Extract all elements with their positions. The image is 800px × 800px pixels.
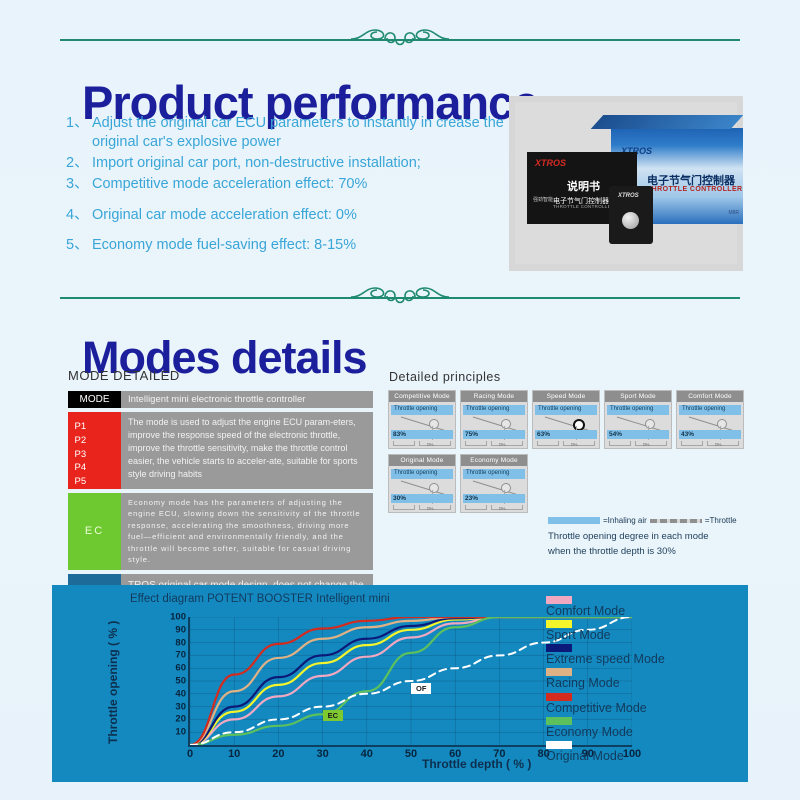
- mode-card-foot: 0%: [391, 440, 453, 448]
- principles-card-row: Original Mode Throttle opening 30% 0% Ec…: [388, 454, 744, 513]
- bracket-right: [419, 505, 451, 510]
- mode-card-title: Original Mode: [389, 455, 455, 466]
- mode-card-foot: 0%: [463, 504, 525, 512]
- mode-card-percent: 63%: [537, 431, 550, 438]
- table-row-key: P1 P2 P3 P4 P5: [68, 412, 121, 489]
- mode-card-title: Sport Mode: [605, 391, 671, 402]
- throttle-opening-label: Throttle opening: [466, 406, 509, 412]
- principles-legend: =Inhaling air =Throttle Throttle opening…: [548, 516, 744, 560]
- product-photo: XTROS 电子节气门控制器 THROTTLE CONTROLLER M8R X…: [509, 96, 743, 271]
- chart-y-tick: 90: [175, 624, 186, 635]
- inhaling-air-swatch: [548, 517, 600, 524]
- chart-y-tick: 70: [175, 650, 186, 661]
- table-row-description: The mode is used to adjust the engine EC…: [121, 412, 373, 489]
- list-item-number: 1、: [66, 114, 92, 152]
- list-item: 1、 Adjust the original car ECU parameter…: [66, 114, 506, 152]
- detailed-principles-label: Detailed principles: [389, 370, 501, 384]
- table-row: EC Economy mode has the parameters of ad…: [68, 493, 373, 570]
- list-item-text: Competitive mode acceleration effect: 70…: [92, 175, 506, 194]
- throttle-label: =Throttle: [705, 516, 737, 525]
- mode-card-body: Throttle opening 30% 0%: [389, 466, 455, 512]
- mode-card-title: Competitive Mode: [389, 391, 455, 402]
- list-item-number: 3、: [66, 175, 92, 194]
- mode-card: Competitive Mode Throttle opening 83% 0%: [388, 390, 456, 449]
- mode-card-percent: 75%: [465, 431, 478, 438]
- legend-swatch: [546, 717, 572, 725]
- flourish-ornament-icon: [341, 26, 459, 52]
- inhaling-air-label: =Inhaling air: [603, 516, 647, 525]
- bracket-right: [491, 441, 523, 446]
- legend-label: Sport Mode: [546, 629, 746, 642]
- bracket-right: [563, 441, 595, 446]
- manual-brand-label: XTROS: [535, 158, 566, 168]
- inhaling-air-bar-top: Throttle opening: [607, 405, 669, 415]
- mode-card-title: Economy Mode: [461, 455, 527, 466]
- mode-card-title: Comfort Mode: [677, 391, 743, 402]
- chart-legend: Comfort Mode Sport Mode Extreme speed Mo…: [546, 596, 746, 765]
- table-row-key: MODE: [68, 391, 121, 408]
- mode-card-foot: 0%: [535, 440, 597, 448]
- table-row-key: EC: [68, 493, 121, 570]
- legend-swatch: [546, 596, 572, 604]
- preset-keys: P1 P2 P3 P4 P5: [73, 420, 117, 489]
- foot-percent: 0%: [427, 442, 434, 447]
- foot-percent: 0%: [643, 442, 650, 447]
- list-item-text: Economy mode fuel-saving effect: 8-15%: [92, 236, 506, 255]
- legend-label: Extreme speed Mode: [546, 653, 746, 666]
- throttle-point-icon: [429, 483, 439, 493]
- mode-card-body: Throttle opening 54% 0%: [605, 402, 671, 448]
- bracket-left: [537, 441, 559, 446]
- infographic-page: Product performance 1、 Adjust the origin…: [0, 0, 800, 800]
- bracket-right: [419, 441, 451, 446]
- legend-item: Economy Mode: [546, 717, 746, 739]
- principles-card-row: Competitive Mode Throttle opening 83% 0%…: [388, 390, 744, 449]
- chart-x-tick: 20: [272, 748, 284, 760]
- chart-y-axis-label: Throttle opening ( % ): [106, 615, 122, 749]
- list-item-number: 2、: [66, 154, 92, 173]
- legend-item: Sport Mode: [546, 620, 746, 642]
- foot-percent: 0%: [499, 442, 506, 447]
- mode-card-body: Throttle opening 75% 0%: [461, 402, 527, 448]
- chart-y-tick: 80: [175, 637, 186, 648]
- list-item-text: Import original car port, non-destructiv…: [92, 154, 506, 173]
- foot-percent: 0%: [715, 442, 722, 447]
- bracket-left: [681, 441, 703, 446]
- throttle-opening-label: Throttle opening: [466, 470, 509, 476]
- list-item: 5、 Economy mode fuel-saving effect: 8-15…: [66, 236, 506, 255]
- mode-card-foot: 0%: [607, 440, 669, 448]
- manual-small-label: 强劲智能: [533, 196, 553, 203]
- chart-annotation-of: OF: [411, 683, 431, 694]
- chart-x-axis-label: Throttle depth ( % ): [422, 757, 531, 771]
- mode-card-foot: 0%: [391, 504, 453, 512]
- legend-label: Competitive Mode: [546, 702, 746, 715]
- throttle-point-icon: [717, 419, 727, 429]
- foot-percent: 0%: [571, 442, 578, 447]
- throttle-opening-label: Throttle opening: [682, 406, 725, 412]
- chart-x-tick: 60: [449, 748, 461, 760]
- mode-detailed-label: MODE DETAILED: [68, 368, 180, 383]
- legend-item: Competitive Mode: [546, 693, 746, 715]
- chart-x-tick: 0: [187, 748, 193, 760]
- legend-label: Economy Mode: [546, 726, 746, 739]
- inhaling-air-bar-top: Throttle opening: [391, 405, 453, 415]
- list-item-number: 5、: [66, 236, 92, 255]
- list-item: 3、 Competitive mode acceleration effect:…: [66, 175, 506, 194]
- legend-caption-line2: when the throttle depth is 30%: [548, 545, 744, 559]
- throttle-opening-label: Throttle opening: [394, 470, 437, 476]
- throttle-opening-label: Throttle opening: [394, 406, 437, 412]
- inhaling-air-bar-top: Throttle opening: [679, 405, 741, 415]
- mode-card-title: Speed Mode: [533, 391, 599, 402]
- inhaling-air-bar-top: Throttle opening: [391, 469, 453, 479]
- foot-percent: 0%: [427, 506, 434, 511]
- photo-inner: XTROS 电子节气门控制器 THROTTLE CONTROLLER M8R X…: [515, 102, 737, 264]
- chart-y-tick: 40: [175, 688, 186, 699]
- legend-swatch: [546, 693, 572, 701]
- mode-card-percent: 83%: [393, 431, 406, 438]
- inhaling-air-bar-top: Throttle opening: [535, 405, 597, 415]
- legend-row: =Inhaling air =Throttle: [548, 516, 744, 525]
- legend-item: Comfort Mode: [546, 596, 746, 618]
- throttle-swatch: [650, 519, 702, 523]
- throttle-point-icon: [645, 419, 655, 429]
- throttle-point-icon: [429, 419, 439, 429]
- chart-x-tick: 50: [405, 748, 417, 760]
- box-english-label: THROTTLE CONTROLLER: [647, 186, 742, 193]
- throttle-controller-device: XTROS: [609, 186, 653, 244]
- mode-card-body: Throttle opening 23% 0%: [461, 466, 527, 512]
- mode-detail-table: MODE Intelligent mini electronic throttl…: [68, 391, 373, 616]
- divider-middle: [60, 284, 740, 310]
- mode-card-percent: 30%: [393, 495, 406, 502]
- mode-card-foot: 0%: [463, 440, 525, 448]
- list-item-number: 4、: [66, 206, 92, 225]
- chart-title: Effect diagram POTENT BOOSTER Intelligen…: [130, 593, 390, 605]
- product-feature-list: 1、 Adjust the original car ECU parameter…: [66, 114, 506, 257]
- chart-y-tick: 20: [175, 714, 186, 725]
- legend-swatch: [546, 741, 572, 749]
- legend-label: Original Mode: [546, 750, 746, 763]
- flourish-ornament-icon: [341, 284, 459, 310]
- mode-card: Racing Mode Throttle opening 75% 0%: [460, 390, 528, 449]
- list-item-text: Adjust the original car ECU parameters t…: [92, 114, 506, 152]
- principles-card-grid: Competitive Mode Throttle opening 83% 0%…: [388, 390, 744, 518]
- chart-x-tick: 10: [228, 748, 240, 760]
- mode-card-percent: 23%: [465, 495, 478, 502]
- throttle-point-icon: [501, 419, 511, 429]
- legend-label: Comfort Mode: [546, 605, 746, 618]
- manual-chinese-title: 说明书: [567, 178, 600, 194]
- chart-x-tick: 30: [316, 748, 328, 760]
- legend-item: Extreme speed Mode: [546, 644, 746, 666]
- table-row-description: Intelligent mini electronic throttle con…: [121, 391, 373, 408]
- mode-card: Original Mode Throttle opening 30% 0%: [388, 454, 456, 513]
- table-row: P1 P2 P3 P4 P5 The mode is used to adjus…: [68, 412, 373, 489]
- chart-y-tick: 50: [175, 676, 186, 687]
- table-row-description: Economy mode has the parameters of adjus…: [121, 493, 373, 570]
- manual-english-subtitle: THROTTLE CONTROLLER: [553, 204, 614, 209]
- list-item-text: Original car mode acceleration effect: 0…: [92, 206, 506, 225]
- mode-card-title: Racing Mode: [461, 391, 527, 402]
- box-model-label: M8R: [728, 210, 739, 216]
- legend-item: Original Mode: [546, 741, 746, 763]
- chart-annotation-ec: EC: [323, 710, 343, 721]
- throttle-opening-label: Throttle opening: [538, 406, 581, 412]
- bracket-right: [635, 441, 667, 446]
- legend-item: Racing Mode: [546, 668, 746, 690]
- bracket-left: [465, 441, 487, 446]
- preset-key: P5: [73, 475, 97, 489]
- box-top-face: [591, 115, 743, 129]
- throttle-opening-label: Throttle opening: [610, 406, 653, 412]
- legend-caption-line1: Throttle opening degree in each mode: [548, 530, 744, 544]
- mode-card-body: Throttle opening 83% 0%: [389, 402, 455, 448]
- inhaling-air-bar-top: Throttle opening: [463, 469, 525, 479]
- preset-key: P4: [73, 461, 97, 475]
- preset-key: P1: [73, 420, 97, 434]
- legend-swatch: [546, 620, 572, 628]
- mode-card: Economy Mode Throttle opening 23% 0%: [460, 454, 528, 513]
- chart-x-tick: 40: [361, 748, 373, 760]
- divider-top: [60, 26, 740, 52]
- bracket-right: [491, 505, 523, 510]
- mode-card: Speed Mode Throttle opening 63% 0%: [532, 390, 600, 449]
- bracket-right: [707, 441, 739, 446]
- foot-percent: 0%: [499, 506, 506, 511]
- inhaling-air-bar-top: Throttle opening: [463, 405, 525, 415]
- mode-card-percent: 54%: [609, 431, 622, 438]
- preset-key: P2: [73, 434, 97, 448]
- chart-y-tick: 100: [170, 612, 186, 623]
- bracket-left: [393, 441, 415, 446]
- mode-card: Comfort Mode Throttle opening 43% 0%: [676, 390, 744, 449]
- bracket-left: [609, 441, 631, 446]
- throttle-point-icon: [501, 483, 511, 493]
- legend-swatch: [546, 644, 572, 652]
- device-knob-icon: [622, 212, 639, 229]
- chart-y-tick: 30: [175, 701, 186, 712]
- mode-card-percent: 43%: [681, 431, 694, 438]
- bracket-left: [465, 505, 487, 510]
- table-row: MODE Intelligent mini electronic throttl…: [68, 391, 373, 408]
- device-brand-label: XTROS: [618, 193, 639, 199]
- bracket-left: [393, 505, 415, 510]
- chart-y-tick: 60: [175, 663, 186, 674]
- mode-card: Sport Mode Throttle opening 54% 0%: [604, 390, 672, 449]
- legend-swatch: [546, 668, 572, 676]
- chart-y-tick: 10: [175, 727, 186, 738]
- legend-label: Racing Mode: [546, 677, 746, 690]
- preset-key: P3: [73, 448, 97, 462]
- list-item: 2、 Import original car port, non-destruc…: [66, 154, 506, 173]
- mode-card-foot: 0%: [679, 440, 741, 448]
- mode-card-body: Throttle opening 63% 0%: [533, 402, 599, 448]
- list-item: 4、 Original car mode acceleration effect…: [66, 206, 506, 225]
- mode-card-body: Throttle opening 43% 0%: [677, 402, 743, 448]
- chart-x-tick: 70: [493, 748, 505, 760]
